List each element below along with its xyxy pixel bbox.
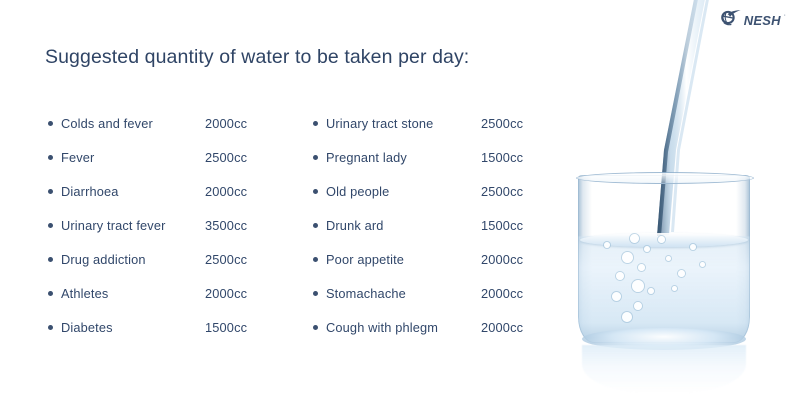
- condition-label: Colds and fever: [61, 116, 153, 131]
- list-item: Old people 2500cc: [310, 174, 565, 208]
- quantity-value: 2000cc: [481, 286, 523, 301]
- quantity-value: 2000cc: [205, 286, 247, 301]
- condition-label: Drunk ard: [326, 218, 384, 233]
- condition-label: Poor appetite: [326, 252, 404, 267]
- condition-label: Diabetes: [61, 320, 113, 335]
- glass-rim: [576, 172, 754, 184]
- bullet-icon: [48, 291, 53, 296]
- bullet-icon: [313, 291, 318, 296]
- glass-reflection: [582, 345, 746, 393]
- quantity-value: 2000cc: [481, 252, 523, 267]
- water-pouring-into-glass-photo: [556, 0, 800, 400]
- bullet-icon: [48, 325, 53, 330]
- list-item: Stomachache 2000cc: [310, 276, 565, 310]
- list-item: Drunk ard 1500cc: [310, 208, 565, 242]
- bubble-cluster: [578, 228, 750, 338]
- infographic-canvas: NESH · Suggested quantity of water to be…: [0, 0, 800, 400]
- list-item: Poor appetite 2000cc: [310, 242, 565, 276]
- list-column-right: Urinary tract stone 2500cc Pregnant lady…: [310, 106, 565, 344]
- condition-label: Drug addiction: [61, 252, 146, 267]
- bullet-icon: [48, 121, 53, 126]
- quantity-value: 2500cc: [481, 116, 523, 131]
- list-item: Drug addiction 2500cc: [45, 242, 295, 276]
- condition-label: Old people: [326, 184, 389, 199]
- list-item: Urinary tract stone 2500cc: [310, 106, 565, 140]
- quantity-value: 2500cc: [205, 252, 247, 267]
- quantity-value: 2500cc: [205, 150, 247, 165]
- condition-label: Stomachache: [326, 286, 406, 301]
- bullet-icon: [313, 121, 318, 126]
- quantity-value: 2500cc: [481, 184, 523, 199]
- bullet-icon: [48, 155, 53, 160]
- condition-label: Urinary tract fever: [61, 218, 166, 233]
- bullet-icon: [48, 257, 53, 262]
- condition-label: Athletes: [61, 286, 108, 301]
- list-item: Cough with phlegm 2000cc: [310, 310, 565, 344]
- bullet-icon: [313, 189, 318, 194]
- quantity-value: 1500cc: [481, 150, 523, 165]
- quantity-value: 3500cc: [205, 218, 247, 233]
- list-item: Pregnant lady 1500cc: [310, 140, 565, 174]
- quantity-value: 1500cc: [481, 218, 523, 233]
- list-item: Fever 2500cc: [45, 140, 295, 174]
- page-title: Suggested quantity of water to be taken …: [45, 46, 469, 69]
- condition-label: Cough with phlegm: [326, 320, 438, 335]
- list-column-left: Colds and fever 2000cc Fever 2500cc Diar…: [45, 106, 295, 344]
- bullet-icon: [313, 223, 318, 228]
- list-item: Diabetes 1500cc: [45, 310, 295, 344]
- list-item: Urinary tract fever 3500cc: [45, 208, 295, 242]
- bullet-icon: [48, 189, 53, 194]
- quantity-value: 1500cc: [205, 320, 247, 335]
- bullet-icon: [313, 155, 318, 160]
- condition-label: Pregnant lady: [326, 150, 407, 165]
- quantity-value: 2000cc: [205, 184, 247, 199]
- bullet-icon: [313, 325, 318, 330]
- bullet-icon: [48, 223, 53, 228]
- quantity-value: 2000cc: [205, 116, 247, 131]
- list-item: Diarrhoea 2000cc: [45, 174, 295, 208]
- list-item: Colds and fever 2000cc: [45, 106, 295, 140]
- list-item: Athletes 2000cc: [45, 276, 295, 310]
- quantity-value: 2000cc: [481, 320, 523, 335]
- condition-label: Diarrhoea: [61, 184, 119, 199]
- bullet-icon: [313, 257, 318, 262]
- condition-label: Urinary tract stone: [326, 116, 433, 131]
- condition-label: Fever: [61, 150, 94, 165]
